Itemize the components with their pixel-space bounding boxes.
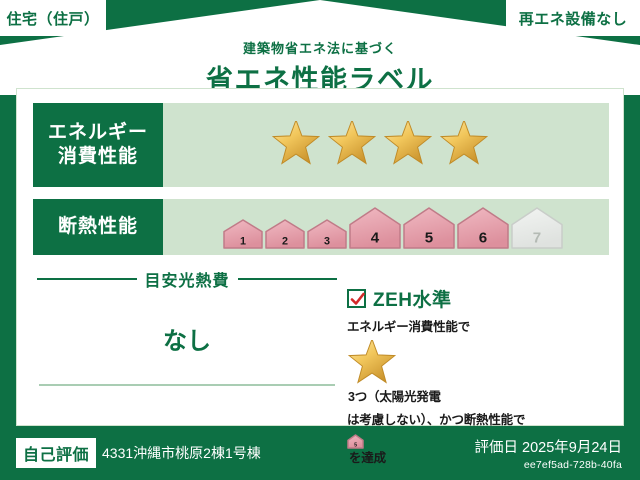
page-subtitle: 建築物省エネ法に基づく	[0, 38, 640, 57]
badge-renewable-equipment: 再エネ設備なし	[506, 0, 640, 36]
utility-cost-value: なし	[37, 321, 337, 356]
svg-text:2: 2	[282, 235, 288, 247]
badge-dwelling-type: 住宅（住戸）	[0, 0, 106, 36]
energy-label-line1: エネルギー	[48, 121, 148, 145]
footer-right: 評価日 2025年9月24日 ee7ef5ad-728b-40fa	[475, 436, 622, 471]
header: 住宅（住戸） 再エネ設備なし 建築物省エネ法に基づく 省エネ性能ラベル	[0, 0, 640, 95]
insulation-performance-value: 1234567	[163, 199, 609, 255]
star-icon	[271, 121, 321, 169]
check-icon	[350, 292, 365, 307]
label-panel: エネルギー 消費性能 断熱性能 1234567 目安光熱費 なし	[16, 88, 624, 426]
zeh-checkbox[interactable]	[347, 289, 366, 308]
insulation-level-scale: 1234567	[163, 199, 563, 255]
zeh-desc-part1: エネルギー消費性能で	[347, 320, 470, 334]
energy-performance-label: エネルギー 消費性能	[33, 103, 163, 187]
utility-cost-title: 目安光熱費	[145, 267, 230, 291]
insulation-performance-row: 断熱性能 1234567	[33, 199, 609, 255]
footer-left: 自己評価 4331沖縄市桃原2棟1号棟	[16, 438, 261, 468]
svg-text:1: 1	[240, 235, 246, 247]
panel-divider	[39, 384, 335, 386]
svg-text:5: 5	[425, 230, 433, 247]
insulation-level-3: 3	[307, 219, 347, 249]
insulation-level-7: 7	[511, 207, 563, 249]
insulation-level-2: 2	[265, 219, 305, 249]
evaluation-id: ee7ef5ad-728b-40fa	[475, 459, 622, 471]
zeh-title: ZEH水準	[373, 285, 452, 312]
footer: 自己評価 4331沖縄市桃原2棟1号棟 評価日 2025年9月24日 ee7ef…	[0, 426, 640, 480]
zeh-desc-stars: 3つ（太陽光発電	[348, 390, 441, 404]
insulation-performance-label: 断熱性能	[33, 199, 163, 255]
utility-cost-block: 目安光熱費 なし	[37, 267, 337, 356]
rule-right	[238, 278, 338, 280]
insulation-level-5: 5	[403, 207, 455, 249]
star-rating	[163, 121, 489, 169]
utility-cost-header: 目安光熱費	[37, 267, 337, 291]
evaluation-date: 評価日 2025年9月24日	[475, 436, 622, 457]
inline-star-icon	[347, 340, 609, 388]
self-evaluation-badge: 自己評価	[16, 438, 96, 468]
insulation-level-1: 1	[223, 219, 263, 249]
star-icon	[439, 121, 489, 169]
svg-text:3: 3	[324, 235, 330, 247]
svg-text:7: 7	[533, 230, 541, 247]
svg-text:4: 4	[371, 230, 380, 247]
insulation-level-4: 4	[349, 207, 401, 249]
energy-performance-row: エネルギー 消費性能	[33, 103, 609, 187]
star-icon	[327, 121, 377, 169]
zeh-desc-part2: は考慮しない）、かつ断熱性能で	[347, 413, 525, 427]
energy-performance-value	[163, 103, 609, 187]
star-icon	[347, 340, 397, 388]
rule-left	[37, 278, 137, 280]
property-address: 4331沖縄市桃原2棟1号棟	[102, 443, 261, 463]
star-icon	[383, 121, 433, 169]
energy-label-line2: 消費性能	[48, 145, 148, 169]
zeh-header: ZEH水準	[347, 285, 609, 312]
insulation-level-6: 6	[457, 207, 509, 249]
svg-text:6: 6	[479, 230, 487, 247]
